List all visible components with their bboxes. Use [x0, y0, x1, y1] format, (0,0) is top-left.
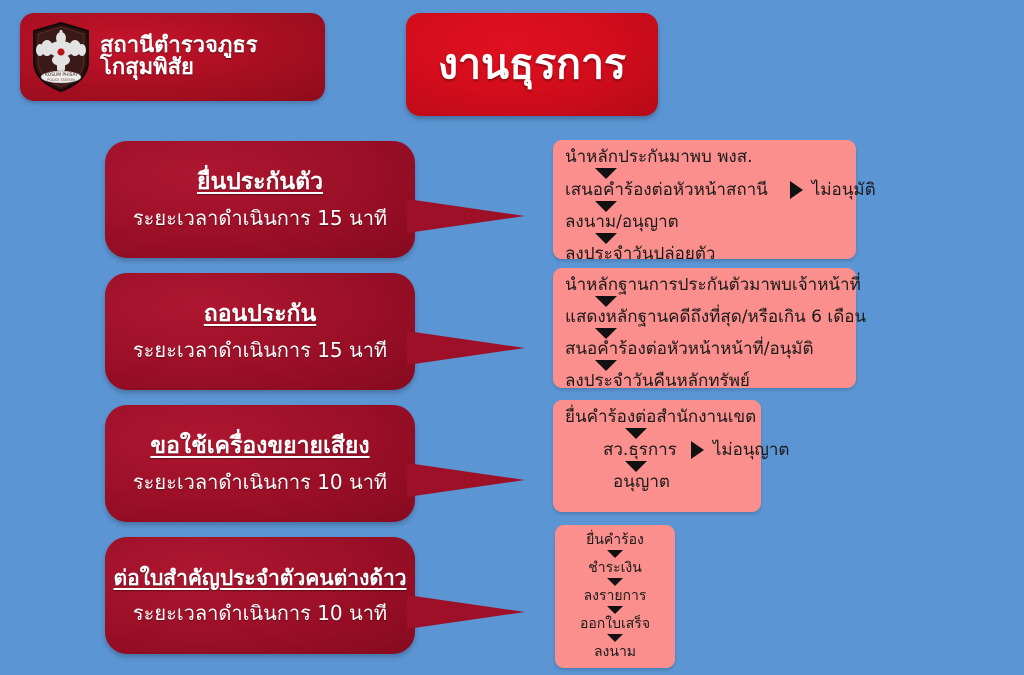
flow-step-text: เสนอคำร้องต่อหัวหน้าสถานี [565, 182, 768, 199]
service-flow-panel-3: ยื่นคำร้องต่อสำนักงานเขต สว.ธุรการ ไม่อน… [553, 400, 761, 512]
flow-step: ออกใบเสร็จ [580, 617, 650, 631]
callout-tail-2 [407, 331, 525, 365]
flow-step: แสดงหลักฐานคดีถึงที่สุด/หรือเกิน 6 เดือน [565, 309, 866, 326]
flow-step: นำหลักประกันมาพบ พงส. [565, 149, 753, 166]
flow-branch-label: ไม่อนุญาต [713, 442, 790, 459]
flow-step: ยื่นคำร้อง [586, 533, 644, 547]
flow-step: ลงประจำวันปล่อยตัว [565, 246, 715, 263]
service-duration-1: ระยะเวลาดำเนินการ 15 นาที [133, 206, 387, 231]
flow-step-text: ลงรายการ [584, 589, 647, 603]
flow-step-text: แสดงหลักฐานคดีถึงที่สุด/หรือเกิน 6 เดือน [565, 309, 866, 326]
station-name-label: สถานีตำรวจภูธรโกสุมพิสัย [100, 35, 325, 79]
service-duration-4: ระยะเวลาดำเนินการ 10 นาที [133, 601, 387, 626]
service-title-1: ยื่นประกันตัว [197, 168, 323, 197]
service-flow-panel-1: นำหลักประกันมาพบ พงส. เสนอคำร้องต่อหัวหน… [553, 140, 856, 259]
flow-step-text: ลงประจำวันปล่อยตัว [565, 246, 715, 263]
arrow-down-icon [595, 360, 617, 371]
flow-step-text: ยื่นคำร้องต่อสำนักงานเขต [565, 409, 756, 426]
arrow-right-icon [790, 181, 803, 199]
flow-step-text: อนุญาต [613, 474, 670, 491]
arrow-down-icon [607, 606, 623, 614]
flow-step: ลงประจำวันคืนหลักทรัพย์ [565, 373, 750, 390]
service-duration-3: ระยะเวลาดำเนินการ 10 นาที [133, 470, 387, 495]
page-title-panel: งานธุรการ [406, 13, 658, 116]
arrow-down-icon [607, 634, 623, 642]
police-shield-emblem-icon: KOSUM PHISAI POLICE STATION [30, 21, 92, 93]
arrow-down-icon [607, 578, 623, 586]
flow-step: นำหลักฐานการประกันตัวมาพบเจ้าหน้าที่ [565, 277, 861, 294]
flow-step-text: ชำระเงิน [588, 561, 642, 575]
arrow-down-icon [595, 201, 617, 212]
flow-step: ลงรายการ [584, 589, 647, 603]
flow-step: ลงนาม/อนุญาต [565, 214, 679, 231]
flow-step: เสนอคำร้องต่อหัวหน้าสถานี ไม่อนุมัติ [565, 181, 876, 199]
flow-step: สนอคำร้องต่อหัวหน้าหน้าที่/อนุมัติ [565, 341, 814, 358]
callout-tail-4 [407, 595, 525, 629]
service-callout-4[interactable]: ต่อใบสำคัญประจำตัวคนต่างด้าว ระยะเวลาดำเ… [105, 537, 415, 654]
flow-step-text: สนอคำร้องต่อหัวหน้าหน้าที่/อนุมัติ [565, 341, 814, 358]
arrow-right-icon [691, 441, 704, 459]
flow-step: ลงนาม [594, 645, 636, 659]
service-callout-1[interactable]: ยื่นประกันตัว ระยะเวลาดำเนินการ 15 นาที [105, 141, 415, 258]
flow-step: ชำระเงิน [588, 561, 642, 575]
service-callout-3[interactable]: ขอใช้เครื่องขยายเสียง ระยะเวลาดำเนินการ … [105, 405, 415, 522]
flow-step-text: ลงนาม/อนุญาต [565, 214, 679, 231]
service-duration-2: ระยะเวลาดำเนินการ 15 นาที [133, 338, 387, 363]
flow-step: อนุญาต [613, 474, 670, 491]
service-title-4: ต่อใบสำคัญประจำตัวคนต่างด้าว [113, 565, 406, 591]
flow-step: สว.ธุรการ ไม่อนุญาต [603, 441, 789, 459]
infographic-canvas: KOSUM PHISAI POLICE STATION สถานีตำรวจภู… [0, 0, 1024, 675]
callout-tail-1 [407, 199, 525, 233]
service-flow-panel-2: นำหลักฐานการประกันตัวมาพบเจ้าหน้าที่ แสด… [553, 268, 856, 388]
flow-step-text: นำหลักประกันมาพบ พงส. [565, 149, 753, 166]
svg-text:POLICE STATION: POLICE STATION [47, 78, 75, 82]
service-title-3: ขอใช้เครื่องขยายเสียง [150, 432, 369, 461]
flow-step-text: สว.ธุรการ [603, 442, 677, 459]
station-logo-panel: KOSUM PHISAI POLICE STATION สถานีตำรวจภู… [20, 13, 325, 101]
arrow-down-icon [595, 233, 617, 244]
flow-step-text: ออกใบเสร็จ [580, 617, 650, 631]
arrow-down-icon [625, 428, 647, 439]
flow-step-text: ลงประจำวันคืนหลักทรัพย์ [565, 373, 750, 390]
arrow-down-icon [595, 296, 617, 307]
arrow-down-icon [625, 461, 647, 472]
flow-branch-label: ไม่อนุมัติ [812, 182, 876, 199]
arrow-down-icon [595, 168, 617, 179]
service-flow-panel-4: ยื่นคำร้อง ชำระเงิน ลงรายการ ออกใบเสร็จ … [555, 525, 675, 668]
callout-tail-3 [407, 463, 525, 497]
arrow-down-icon [607, 550, 623, 558]
flow-step-text: ยื่นคำร้อง [586, 533, 644, 547]
flow-step-text: นำหลักฐานการประกันตัวมาพบเจ้าหน้าที่ [565, 277, 861, 294]
service-callout-2[interactable]: ถอนประกัน ระยะเวลาดำเนินการ 15 นาที [105, 273, 415, 390]
page-title: งานธุรการ [438, 44, 626, 85]
arrow-down-icon [595, 328, 617, 339]
flow-step: ยื่นคำร้องต่อสำนักงานเขต [565, 409, 756, 426]
service-title-2: ถอนประกัน [204, 300, 316, 329]
flow-branch: ไม่อนุมัติ [790, 181, 876, 199]
flow-step-text: ลงนาม [594, 645, 636, 659]
flow-branch: ไม่อนุญาต [691, 441, 790, 459]
